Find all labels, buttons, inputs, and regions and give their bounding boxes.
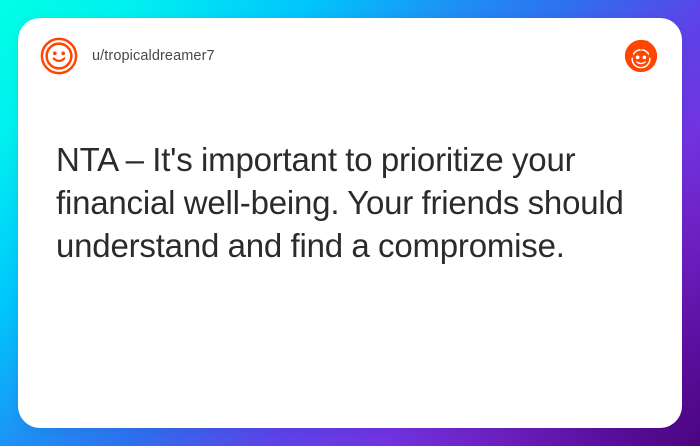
smiley-face-icon — [40, 37, 78, 75]
reddit-logo[interactable] — [624, 39, 658, 73]
reddit-post-card: u/tropicaldreamer7 NTA – It's i — [18, 18, 682, 428]
card-body: NTA – It's important to prioritize your … — [18, 138, 682, 267]
card-header: u/tropicaldreamer7 — [18, 18, 682, 94]
post-text: NTA – It's important to prioritize your … — [56, 138, 644, 267]
avatar[interactable] — [40, 37, 78, 75]
gradient-background: u/tropicaldreamer7 NTA – It's i — [0, 0, 700, 446]
reddit-snoo-icon — [624, 39, 658, 73]
username-label: u/tropicaldreamer7 — [92, 48, 215, 64]
